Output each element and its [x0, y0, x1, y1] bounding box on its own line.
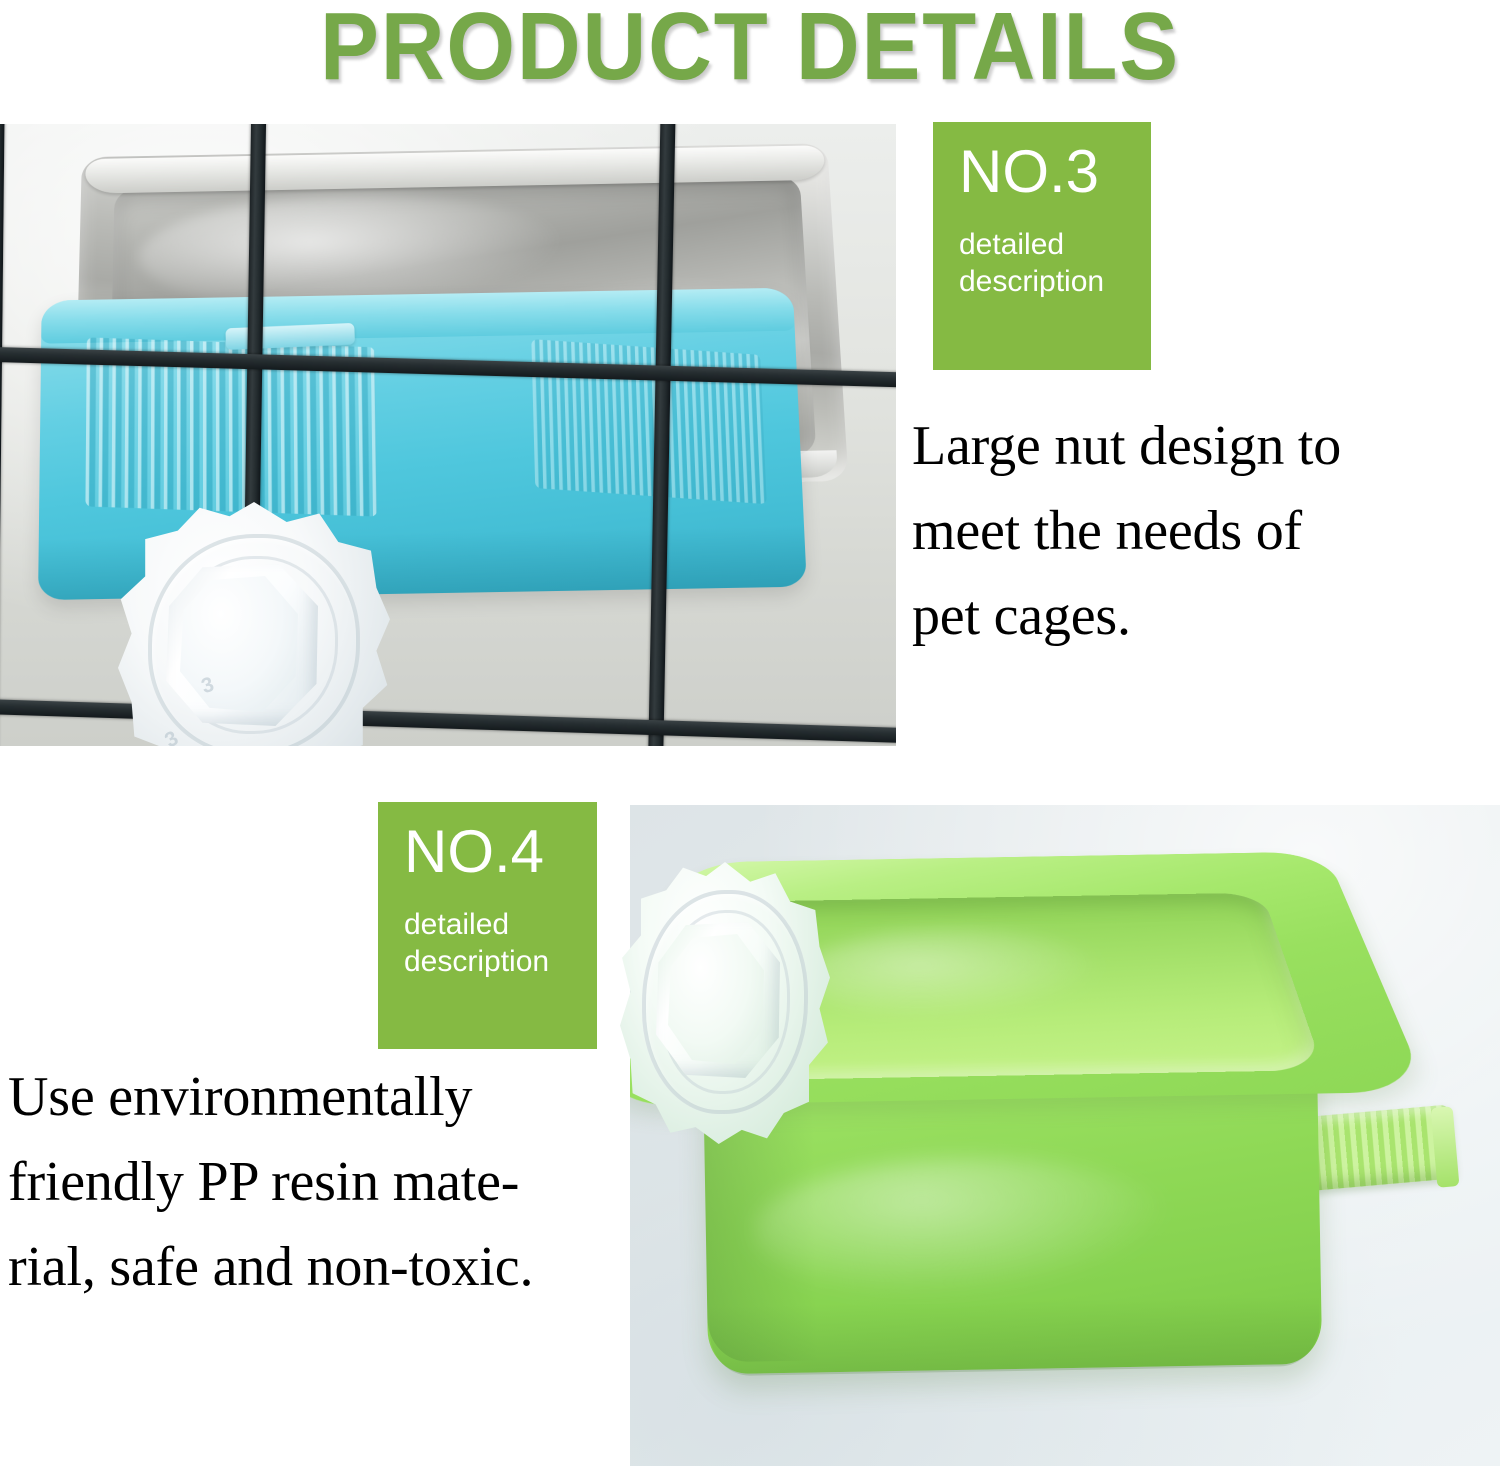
- badge-no3: NO.3 detailed description: [933, 122, 1151, 370]
- description-no4: Use environmentally friendly PP resin ma…: [8, 1055, 632, 1310]
- badge-no4-subtitle: detailed description: [404, 907, 597, 980]
- blue-bowl-on-cage-photo: 3 3: [0, 124, 896, 746]
- knob-hex-face: [180, 576, 298, 712]
- badge-no3-subtitle: detailed description: [959, 227, 1151, 300]
- green-bowl-bottom-shadow: [709, 1296, 1320, 1377]
- description-no3: Large nut design to meet the needs of pe…: [912, 404, 1492, 659]
- green-knob-hex-face: [668, 934, 764, 1064]
- badge-no3-number: NO.3: [959, 138, 1151, 205]
- white-wing-nut-knob: 3 3: [118, 502, 390, 746]
- badge-no4: NO.4 detailed description: [378, 802, 597, 1049]
- badge-no4-number: NO.4: [404, 818, 597, 885]
- page-title: PRODUCT DETAILS: [60, 0, 1440, 102]
- white-wing-nut-knob-green: [620, 862, 830, 1144]
